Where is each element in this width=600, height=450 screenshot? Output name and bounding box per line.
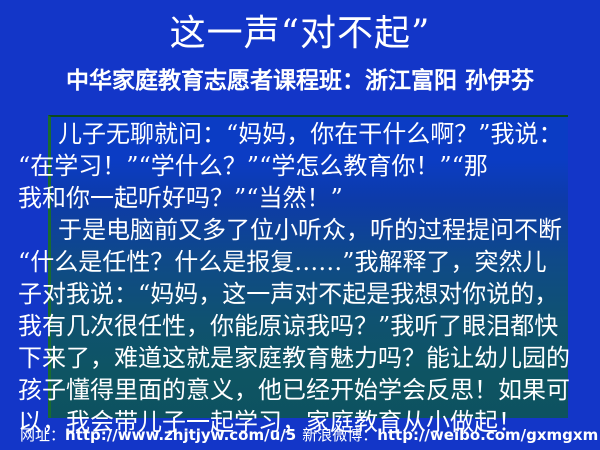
- weibo-label: 新浪微博：: [302, 426, 377, 444]
- website-url[interactable]: http://www.zhjtjyw.com/u/5: [65, 426, 296, 444]
- body-line: 子对我说：“妈妈，这一声对不起是我想对你说的，: [18, 278, 588, 310]
- body-line: 下来了，难道这就是家庭教育魅力吗？能让幼儿园的: [18, 342, 588, 374]
- slide-subtitle: 中华家庭教育志愿者课程班：浙江富阳 孙伊芬: [0, 66, 600, 96]
- website-label: 网址：: [20, 426, 65, 444]
- body-line: 孩子懂得里面的意义，他已经开始学会反思！如果可: [18, 374, 588, 406]
- slide-body-text: 儿子无聊就问：“妈妈，你在干什么啊？”我说： “在学习！”“学什么？”“学怎么教…: [18, 118, 588, 438]
- body-line: 儿子无聊就问：“妈妈，你在干什么啊？”我说：: [18, 118, 588, 150]
- body-line: 我有几次很任性，你能原谅我吗？”我听了眼泪都快: [18, 310, 588, 342]
- footer-bar: 网址：http://www.zhjtjyw.com/u/5新浪微博：http:/…: [20, 425, 598, 445]
- body-line: 于是电脑前又多了位小听众，听的过程提问不断: [18, 214, 588, 246]
- body-line: 我和你一起听好吗？”“当然！”: [18, 182, 588, 214]
- body-line: “什么是任性？什么是报复……”我解释了，突然儿: [18, 246, 588, 278]
- body-line: “在学习！”“学什么？”“学怎么教育你！”“那: [18, 150, 588, 182]
- weibo-url[interactable]: http://weibo.com/gxmgxm: [377, 426, 598, 444]
- presentation-slide: 这一声“对不起” 中华家庭教育志愿者课程班：浙江富阳 孙伊芬 儿子无聊就问：“妈…: [0, 0, 600, 450]
- slide-title: 这一声“对不起”: [0, 12, 600, 56]
